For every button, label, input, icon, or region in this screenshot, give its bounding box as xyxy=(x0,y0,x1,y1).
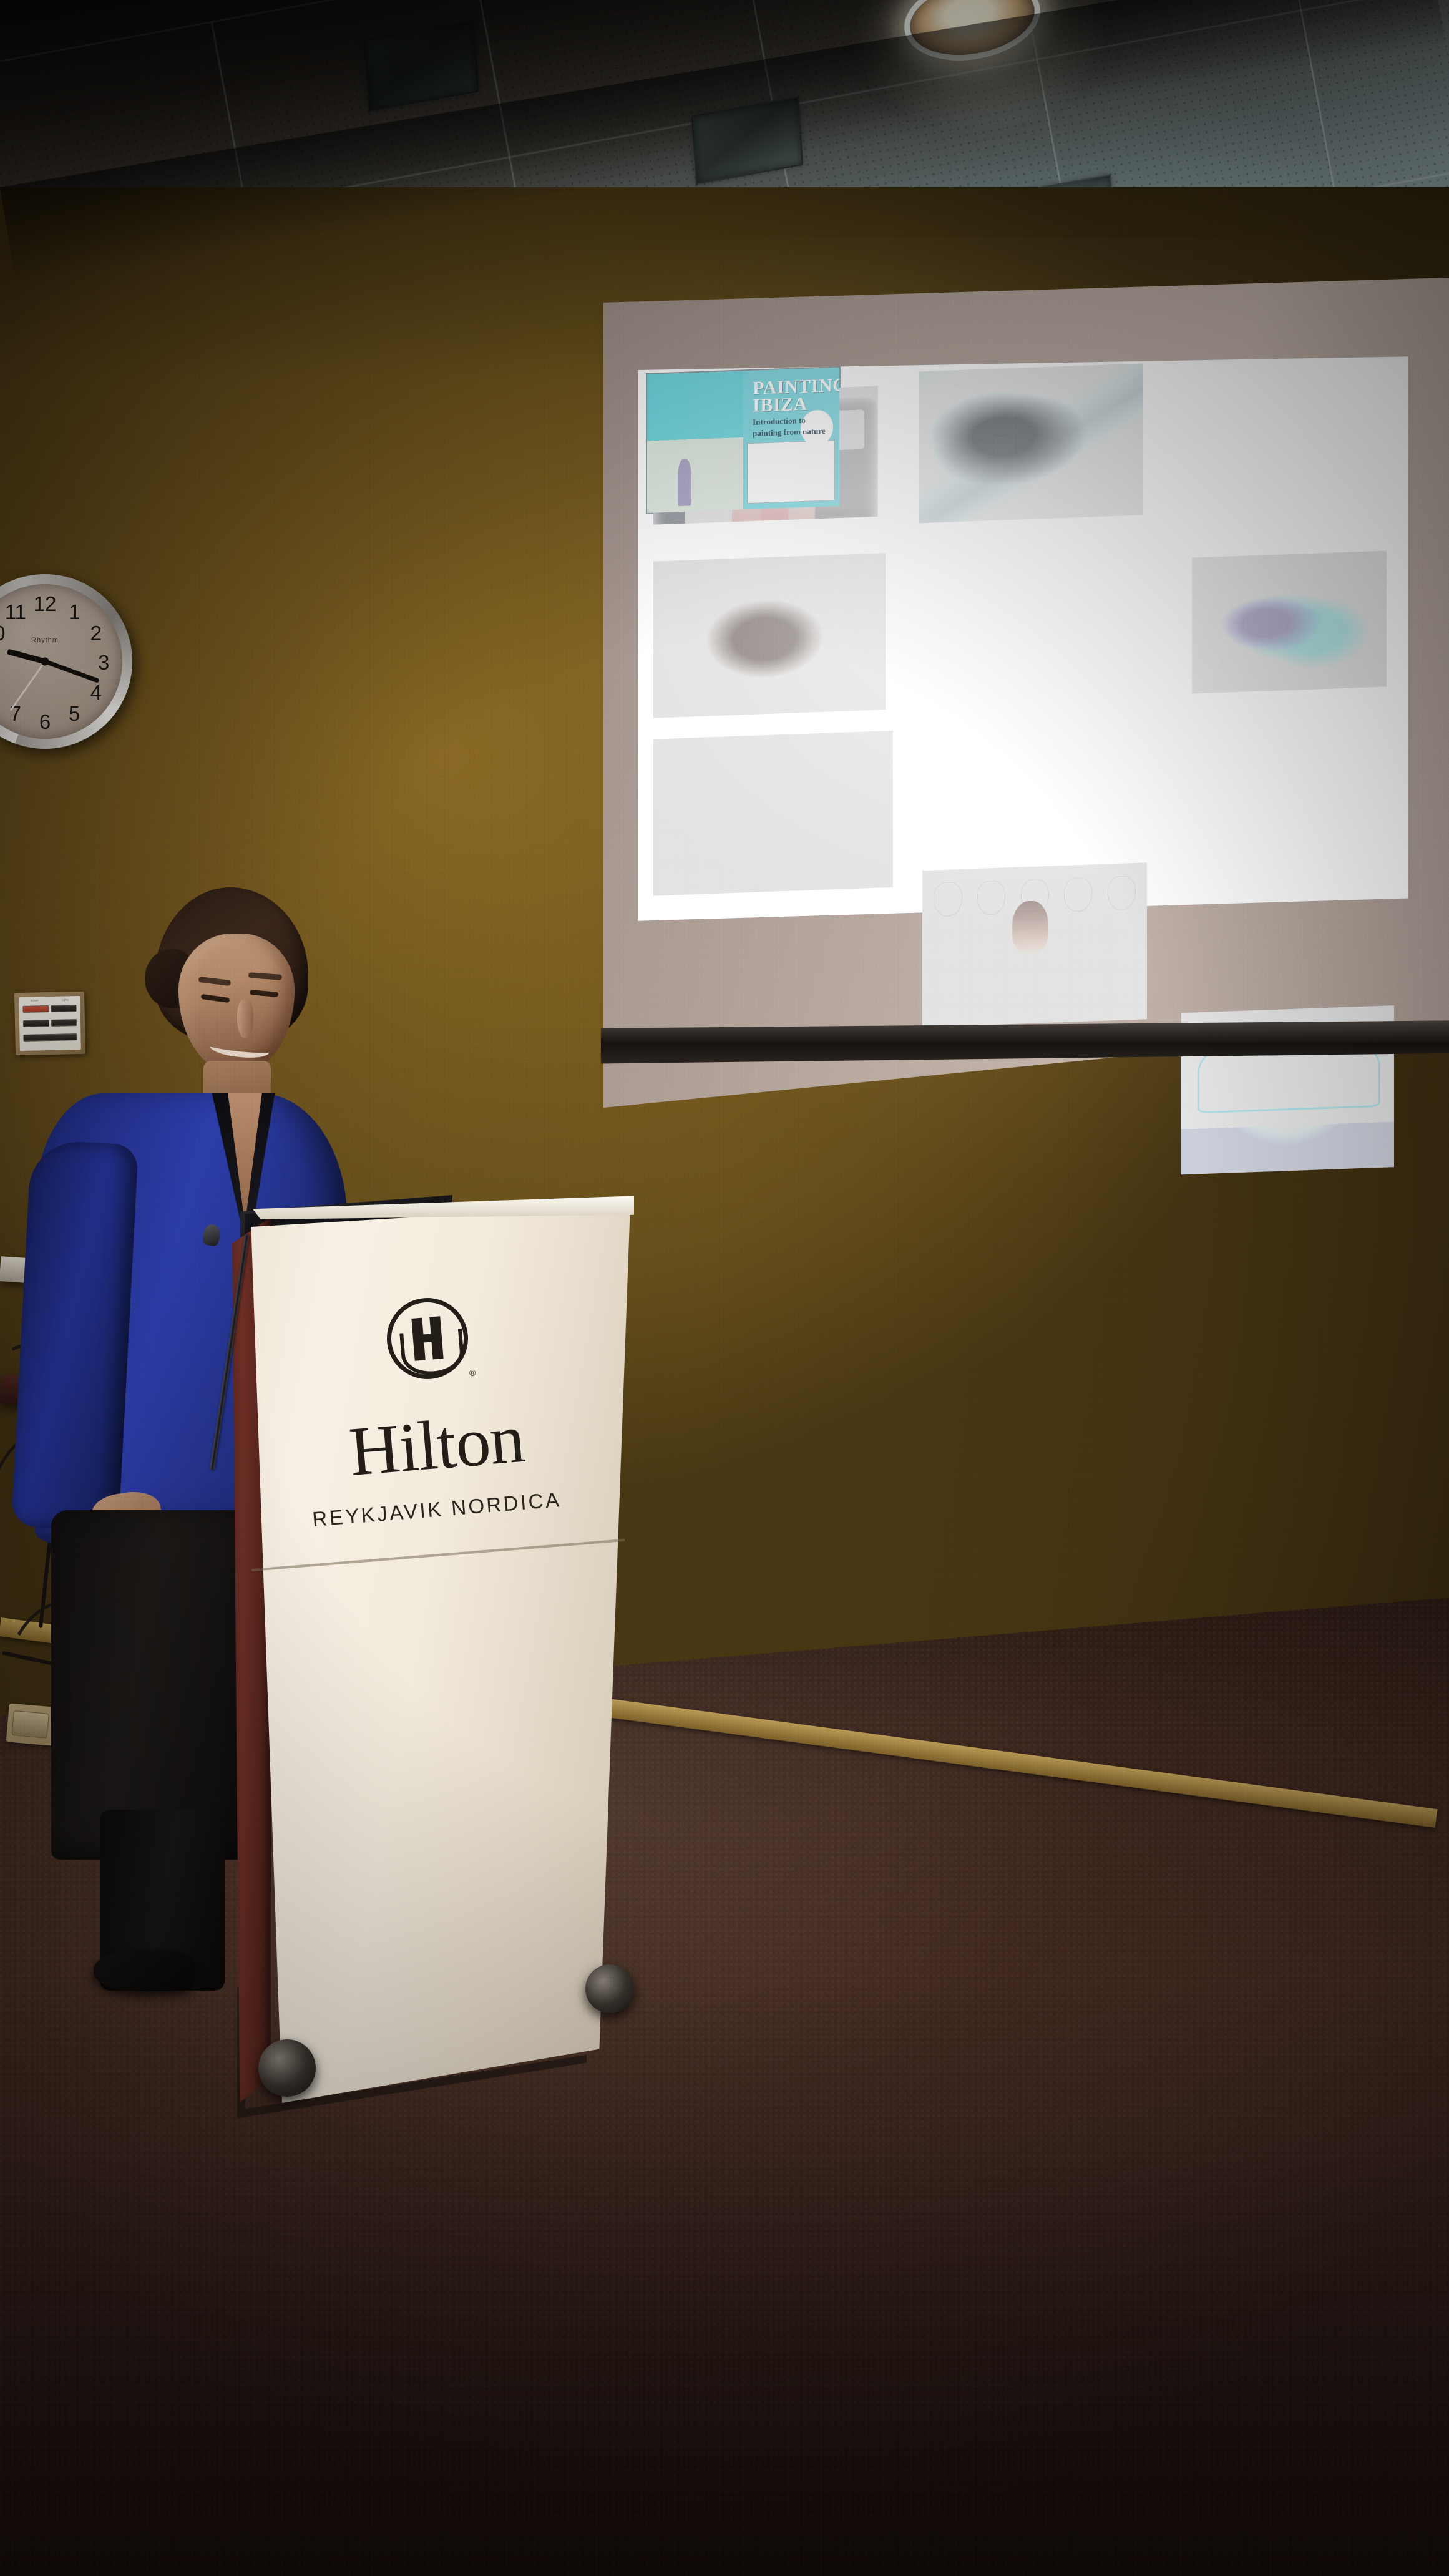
hilton-h-glyph xyxy=(411,1316,443,1360)
clock-hour-hand xyxy=(7,649,46,665)
clock-numeral-2: 2 xyxy=(90,622,102,645)
book-subtitle-line1: Introduction to xyxy=(753,416,806,426)
wall-clock: Rhythm 12 1 2 3 4 5 6 7 8 9 10 11 xyxy=(0,574,132,749)
lectern[interactable]: ® Hilton REYKJAVIK NORDICA xyxy=(200,1204,674,2140)
clock-center-pin xyxy=(41,658,49,666)
clock-numeral-11: 11 xyxy=(5,600,26,624)
book-blank-panel xyxy=(747,440,835,504)
slide-image-hanging-row xyxy=(922,862,1147,1027)
slide-image-grid: PAINTING IBIZA Introduction to painting … xyxy=(646,346,1394,896)
book-title-line2: IBIZA xyxy=(753,396,807,415)
registered-trademark-icon: ® xyxy=(469,1368,476,1378)
clock-numeral-10: 10 xyxy=(0,622,6,645)
slide-image-book-cover: PAINTING IBIZA Introduction to painting … xyxy=(646,366,841,514)
lectern-caster-wheel xyxy=(258,2039,316,2097)
slide-image-artist-outdoor xyxy=(919,363,1143,523)
clock-brand-label: Rhythm xyxy=(31,637,59,644)
clock-numeral-4: 4 xyxy=(90,681,102,705)
clock-second-hand xyxy=(10,661,46,711)
slide-image-sketching xyxy=(653,553,885,718)
projection-screen[interactable]: PAINTING IBIZA Introduction to painting … xyxy=(599,278,1449,1108)
clock-numeral-7: 7 xyxy=(10,702,21,726)
portrait-face xyxy=(1012,900,1048,955)
clock-numeral-12: 12 xyxy=(34,592,57,616)
hilton-circle-mark xyxy=(384,1295,471,1382)
clock-numeral-5: 5 xyxy=(69,702,80,726)
hilton-logo-icon xyxy=(384,1295,471,1382)
book-front-illustration xyxy=(647,371,743,513)
presenter-arm xyxy=(11,1139,139,1531)
clock-minute-hand xyxy=(44,660,100,683)
book-back-cover: PAINTING IBIZA Introduction to painting … xyxy=(743,368,839,510)
presenter-nose xyxy=(237,1000,253,1038)
clock-numeral-3: 3 xyxy=(98,651,109,675)
conference-room-scene: PAINTING IBIZA Introduction to painting … xyxy=(0,0,1449,2576)
slide-image-abstract-teal xyxy=(1192,550,1387,693)
slide-image-studio-easels xyxy=(653,730,893,895)
hilton-h-crossbar xyxy=(413,1333,442,1344)
clock-numeral-6: 6 xyxy=(39,710,51,734)
lectern-caster-wheel xyxy=(585,1964,634,2013)
clock-numeral-1: 1 xyxy=(69,600,80,624)
presenter-shoe xyxy=(94,1950,193,1991)
